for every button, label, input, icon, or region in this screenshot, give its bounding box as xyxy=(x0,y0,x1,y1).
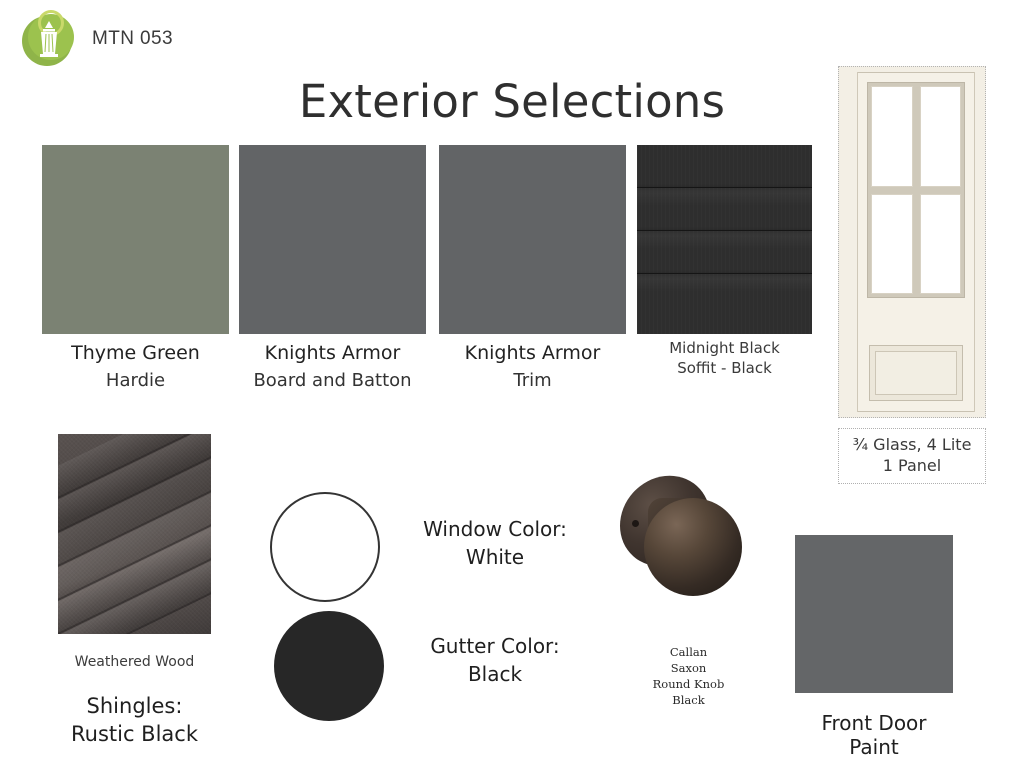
shingle-title: Shingles: Rustic Black xyxy=(58,692,211,748)
swatch-detail: Trim xyxy=(439,367,626,394)
swatch-caption: Knights Armor Trim xyxy=(439,340,626,394)
door-lite xyxy=(871,86,913,187)
door-rail xyxy=(867,305,965,343)
swatch-knights-armor-trim: Knights Armor Trim xyxy=(439,145,626,394)
color-chip xyxy=(42,145,229,334)
shingle-photo-caption: Weathered Wood xyxy=(58,654,211,670)
door-lite xyxy=(920,86,962,187)
window-color-swatch xyxy=(270,492,380,602)
gutter-color-swatch xyxy=(274,611,384,721)
front-door-paint-label: Front Door Paint xyxy=(795,711,953,759)
door-hardware-caption: Callan Saxon Round Knob Black xyxy=(606,644,771,708)
shingle-title-line1: Shingles: xyxy=(58,692,211,720)
color-chip xyxy=(239,145,426,334)
color-chip xyxy=(439,145,626,334)
door-raised-panel xyxy=(869,345,963,401)
front-door-paint-selection: Front Door Paint xyxy=(795,535,953,759)
hardware-style: Round Knob xyxy=(606,676,771,692)
door-frame xyxy=(838,66,986,418)
door-knob-image xyxy=(606,470,771,620)
door-spec-line2: 1 Panel xyxy=(843,455,981,476)
swatch-caption: Knights Armor Board and Batton xyxy=(239,340,426,394)
door-spec-line1: ¾ Glass, 4 Lite xyxy=(843,434,981,455)
swatch-name: Midnight Black xyxy=(637,338,812,358)
window-color-label: Window Color: White xyxy=(395,515,595,571)
gutter-color-line2: Black xyxy=(395,660,595,688)
door-slab xyxy=(857,72,975,412)
knob-ball xyxy=(644,498,742,596)
door-spec-label: ¾ Glass, 4 Lite 1 Panel xyxy=(838,428,986,484)
gutter-color-line1: Gutter Color: xyxy=(395,632,595,660)
swatch-midnight-black-soffit: Midnight Black Soffit - Black xyxy=(637,145,812,378)
window-color-line2: White xyxy=(395,543,595,571)
swatch-caption: Thyme Green Hardie xyxy=(42,340,229,394)
swatch-detail: Board and Batton xyxy=(239,367,426,394)
swatch-name: Knights Armor xyxy=(439,340,626,367)
shingle-title-line2: Rustic Black xyxy=(58,720,211,748)
door-stile-left xyxy=(857,72,858,412)
door-glass-lites xyxy=(867,82,965,298)
gutter-color-label: Gutter Color: Black xyxy=(395,632,595,688)
front-door-paint-chip xyxy=(795,535,953,693)
lantern-logo-icon xyxy=(18,8,80,70)
window-color-line1: Window Color: xyxy=(395,515,595,543)
door-lite xyxy=(871,194,913,295)
shingles-selection: Weathered Wood Shingles: Rustic Black xyxy=(58,434,211,748)
knob-screw xyxy=(632,520,639,527)
door-stile-right xyxy=(974,72,975,412)
swatch-thyme-green: Thyme Green Hardie xyxy=(42,145,229,394)
swatch-caption: Midnight Black Soffit - Black xyxy=(637,338,812,378)
project-code: MTN 053 xyxy=(92,28,173,50)
siding-texture-sample xyxy=(637,145,812,334)
lantern-glyph-icon xyxy=(32,18,66,64)
shingle-granule-texture xyxy=(58,434,211,634)
swatch-knights-armor-board-batton: Knights Armor Board and Batton xyxy=(239,145,426,394)
swatch-detail: Hardie xyxy=(42,367,229,394)
front-door-illustration: ¾ Glass, 4 Lite 1 Panel xyxy=(838,66,986,484)
door-hardware-selection: Callan Saxon Round Knob Black xyxy=(606,470,771,708)
door-lite xyxy=(920,194,962,295)
swatch-name: Knights Armor xyxy=(239,340,426,367)
exterior-selections-board: MTN 053 Exterior Selections Thyme Green … xyxy=(0,0,1024,772)
hardware-finish: Black xyxy=(606,692,771,708)
hardware-model: Saxon xyxy=(606,660,771,676)
swatch-detail: Soffit - Black xyxy=(637,358,812,378)
shingle-photo xyxy=(58,434,211,634)
swatch-name: Thyme Green xyxy=(42,340,229,367)
brand-header: MTN 053 xyxy=(18,8,173,70)
hardware-brand: Callan xyxy=(606,644,771,660)
